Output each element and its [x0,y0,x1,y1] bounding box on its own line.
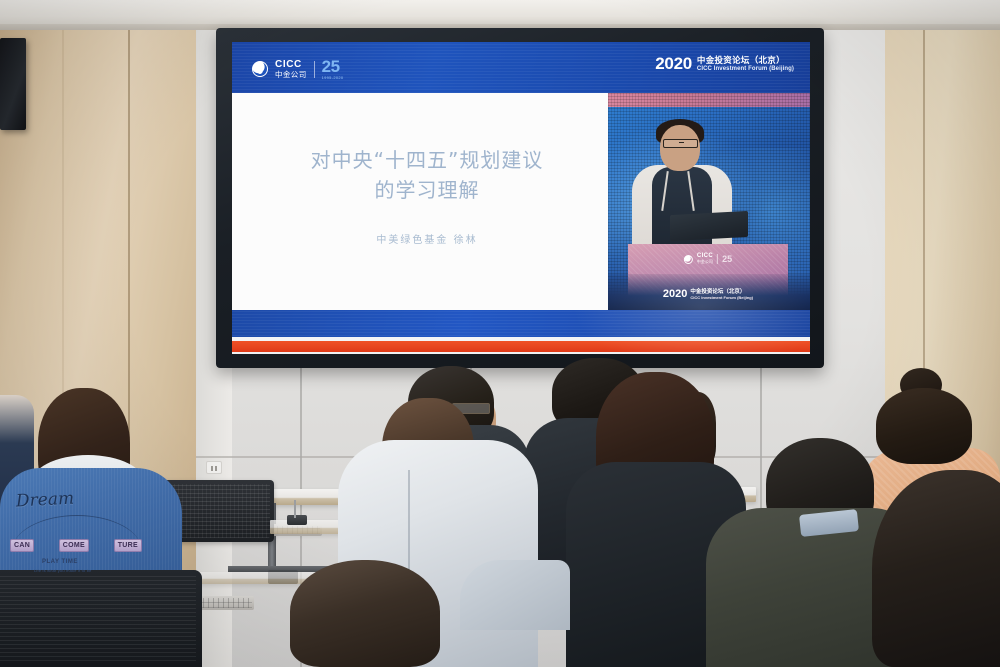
podium-forum-year: 2020 [663,289,687,300]
anniversary-badge: 25 [322,58,344,75]
logo-divider [314,61,315,78]
forum-branding: 2020 中金投资论坛（北京） CICC Investment Forum (B… [655,55,794,72]
logo-divider [717,254,718,264]
denim-jacket-sub-text: PLAY TIME [42,559,78,565]
denim-jacket-script-text: Dream [16,488,75,511]
anniversary-years: 1995-2020 [322,75,344,80]
cicc-logo: CICC 中金公司 25 1995-2020 [252,58,343,80]
forum-title-chinese: 中金投资论坛（北京） [697,56,794,65]
presentation-slide: CICC 中金公司 25 1995-2020 2020 中金投资论坛（北京） [232,42,810,354]
slide-title-line-2: 的学习理解 [262,175,592,205]
slide-subtitle: 中美绿色基金 徐林 [262,231,592,246]
microphone-arm [294,500,296,518]
cicc-logo-english: CICC [275,60,307,70]
slide-title-line-1: 对中央“十四五”规划建议 [262,145,592,175]
wall-outlet-icon [206,461,222,474]
slide-title-block: 对中央“十四五”规划建议 的学习理解 中美绿色基金 徐林 [262,145,592,246]
podium-cicc-logo: CICC 中金公司 25 [684,253,732,265]
chair[interactable] [0,570,202,667]
banner-segment-3: TURE [114,539,142,552]
slide-header-bar: CICC 中金公司 25 1995-2020 2020 中金投资论坛（北京） [232,42,810,93]
denim-jacket-banner-patch: CAN COME TURE [10,534,142,556]
wall-display: CICC 中金公司 25 1995-2020 2020 中金投资论坛（北京） [216,28,824,368]
podium-logo-chinese: 中金公司 [697,259,713,265]
podium-anniversary: 25 [722,255,732,264]
cicc-droplet-icon [684,255,693,264]
slide-footer-edge [232,352,810,354]
slide-footer-accent [232,341,810,352]
desk-microphone [287,515,307,525]
bun-hair-woman-hair [876,388,972,464]
display-screen: CICC 中金公司 25 1995-2020 2020 中金投资论坛（北京） [232,42,810,354]
podium-forum-branding: 2020 中金投资论坛（北京） CICC Investment Forum (B… [663,287,753,300]
foreground-head-center [290,560,440,667]
podium-forum-english: CICC Investment Forum (Beijing) [690,295,753,300]
live-speaker-feed: CICC 中金公司 25 2020 中金投资论坛（北京） CICC [608,93,810,310]
forum-title-english: CICC Investment Forum (Beijing) [697,66,794,72]
glasses-icon [663,139,698,148]
forum-year: 2020 [655,55,692,72]
grey-jacket-person-arm [460,560,570,630]
podium-forum-chinese: 中金投资论坛（北京） [690,287,753,295]
cicc-logo-chinese: 中金公司 [275,71,307,79]
banner-segment-2: COME [59,539,89,552]
denim-jacket-sub-text-small: Life is what you make it to be [34,568,92,573]
ceiling-speaker-icon [0,38,26,130]
speaker-head [660,125,700,171]
cicc-droplet-icon [252,61,268,77]
banner-segment-1: CAN [10,539,34,552]
slide-body: 对中央“十四五”规划建议 的学习理解 中美绿色基金 徐林 [232,93,810,310]
conference-room-photo: CICC 中金公司 25 1995-2020 2020 中金投资论坛（北京） [0,0,1000,667]
podium-laptop [670,211,748,241]
